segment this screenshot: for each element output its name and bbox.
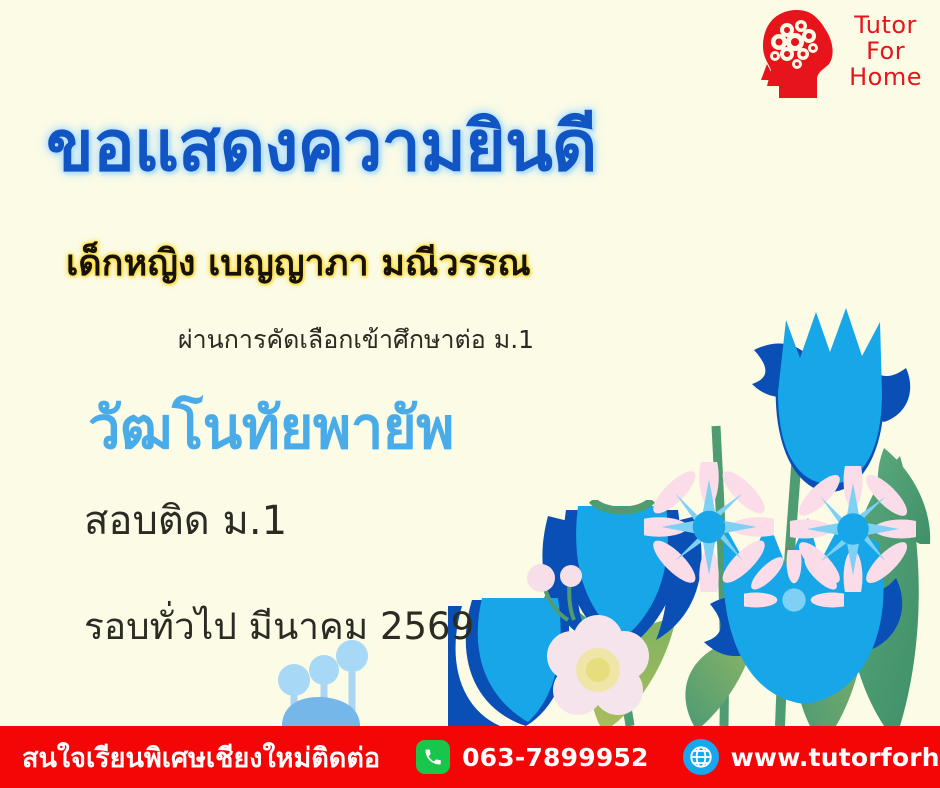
globe-icon bbox=[683, 739, 719, 775]
admission-subline: ผ่านการคัดเลือกเข้าศึกษาต่อ ม.1 bbox=[178, 324, 534, 355]
student-name: เด็กหญิง เบญญาภา มณีวรรณ bbox=[66, 242, 531, 285]
garden-foliage bbox=[480, 226, 940, 726]
blossom-flower bbox=[538, 614, 658, 724]
daisy-flower-3 bbox=[744, 550, 844, 650]
berry-cluster bbox=[524, 562, 604, 642]
headline-congratulations: ขอแสดงความยินดี bbox=[46, 108, 596, 185]
tulip-flower-lower bbox=[690, 508, 920, 718]
phone-contact[interactable]: 063-7899952 bbox=[416, 740, 649, 774]
logo-wordmark: Tutor For Home bbox=[849, 13, 922, 95]
bell-flower-left bbox=[448, 576, 578, 726]
logo-line-3: Home bbox=[849, 65, 922, 91]
phone-number: 063-7899952 bbox=[462, 743, 649, 772]
phone-icon bbox=[416, 740, 450, 774]
website-url: www.tutorforhome.net bbox=[731, 743, 940, 772]
daisy-flower bbox=[644, 462, 774, 592]
result-line: สอบติด ม.1 bbox=[84, 497, 287, 545]
website-contact[interactable]: www.tutorforhome.net bbox=[683, 739, 940, 775]
contact-cta-text: สนใจเรียนพิเศษเชียงใหม่ติดต่อ bbox=[22, 736, 380, 779]
tulip-flower bbox=[730, 306, 930, 506]
contact-banner: สนใจเรียนพิเศษเชียงใหม่ติดต่อ 063-789995… bbox=[0, 726, 940, 788]
lollipop-flowers bbox=[276, 636, 396, 726]
daisy-flower-2 bbox=[790, 466, 916, 592]
congratulations-card: Tutor For Home ขอแสดงความยินดี เด็กหญิง … bbox=[0, 0, 940, 788]
logo-line-1: Tutor bbox=[854, 13, 917, 39]
tutor-for-home-head-icon bbox=[757, 8, 841, 100]
brand-logo[interactable]: Tutor For Home bbox=[757, 8, 922, 100]
logo-line-2: For bbox=[866, 39, 905, 65]
bell-flower bbox=[532, 500, 712, 660]
admission-round: รอบทั่วไป มีนาคม 2569 bbox=[84, 605, 474, 649]
school-name: วัฒโนทัยพายัพ bbox=[88, 396, 454, 461]
